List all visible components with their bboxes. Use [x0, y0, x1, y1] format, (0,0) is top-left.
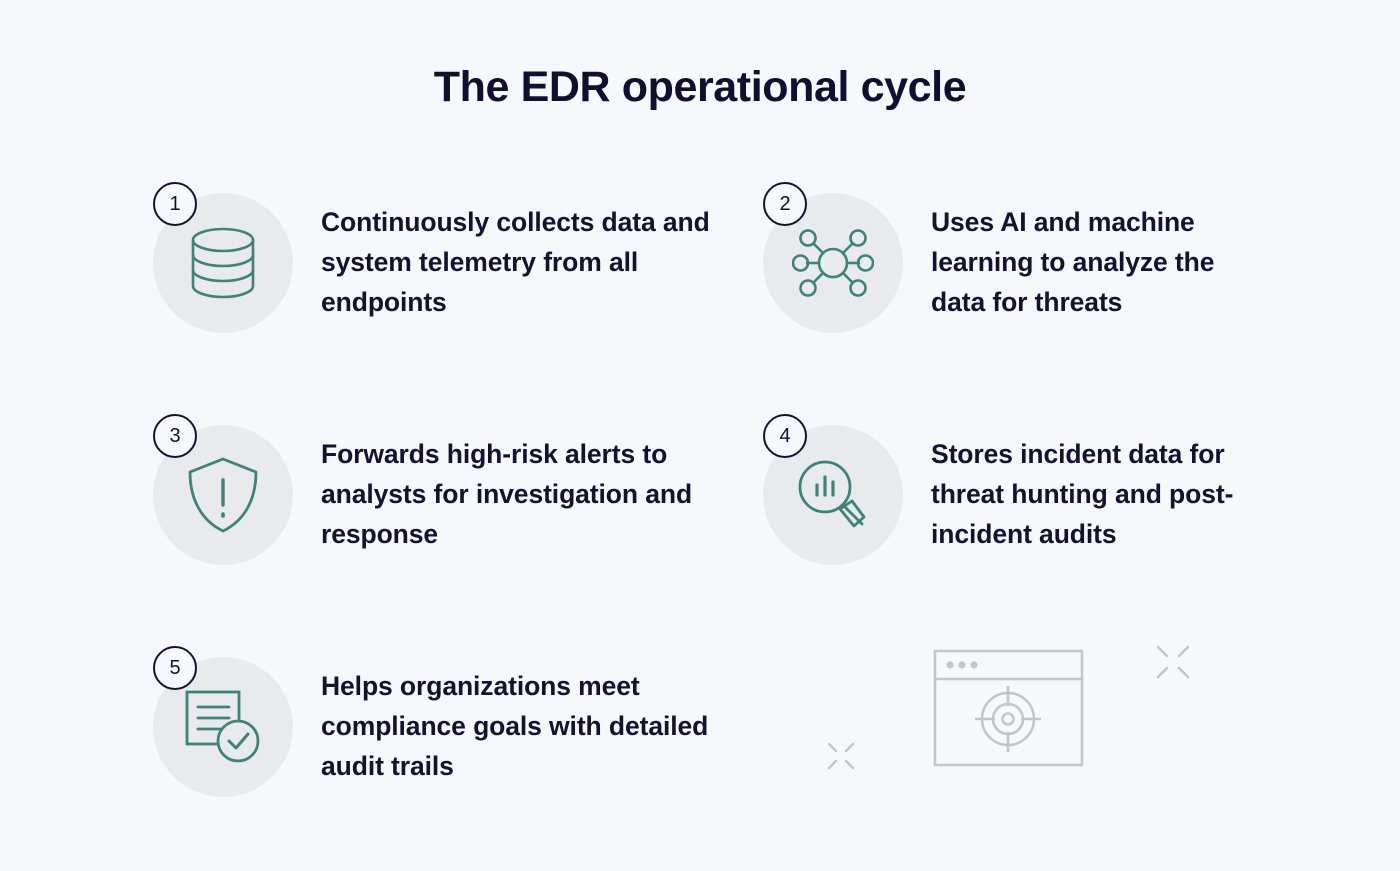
- steps-grid: 1 Continuously collects data and system …: [145, 175, 1325, 871]
- step-description-2: Uses AI and machine learning to analyze …: [931, 202, 1261, 322]
- step-description-1: Continuously collects data and system te…: [321, 202, 721, 322]
- step-number-badge-1: 1: [153, 182, 197, 226]
- step-visual-4: 4: [755, 407, 903, 567]
- step-item-3: 3 Forwards high-risk alerts to analysts …: [145, 407, 755, 639]
- step-number-badge-3: 3: [153, 414, 197, 458]
- step-number-badge-5: 5: [153, 646, 197, 690]
- magnifier-chart-icon: [793, 455, 873, 535]
- network-hub-icon: [792, 222, 874, 304]
- step-description-3: Forwards high-risk alerts to analysts fo…: [321, 434, 721, 554]
- step-number-badge-2: 2: [763, 182, 807, 226]
- step-description-4: Stores incident data for threat hunting …: [931, 434, 1261, 554]
- step-visual-2: 2: [755, 175, 903, 335]
- infographic-root: The EDR operational cycle 1 Continuously…: [0, 0, 1400, 860]
- step-description-5: Helps organizations meet compliance goal…: [321, 666, 721, 786]
- database-icon: [185, 223, 261, 303]
- step-visual-3: 3: [145, 407, 293, 567]
- shield-alert-icon: [186, 455, 260, 535]
- step-item-2: 2 Uses AI and machine learning to analyz…: [755, 175, 1325, 407]
- step-visual-5: 5: [145, 639, 293, 799]
- step-visual-1: 1: [145, 175, 293, 335]
- document-check-icon: [183, 688, 263, 766]
- step-number-badge-4: 4: [763, 414, 807, 458]
- step-item-1: 1 Continuously collects data and system …: [145, 175, 755, 407]
- step-item-5: 5 Helps organizations meet compliance go…: [145, 639, 755, 871]
- page-title: The EDR operational cycle: [0, 62, 1400, 114]
- decoration-cell: [755, 639, 1325, 871]
- step-item-4: 4 Stores incident data for threat huntin…: [755, 407, 1325, 639]
